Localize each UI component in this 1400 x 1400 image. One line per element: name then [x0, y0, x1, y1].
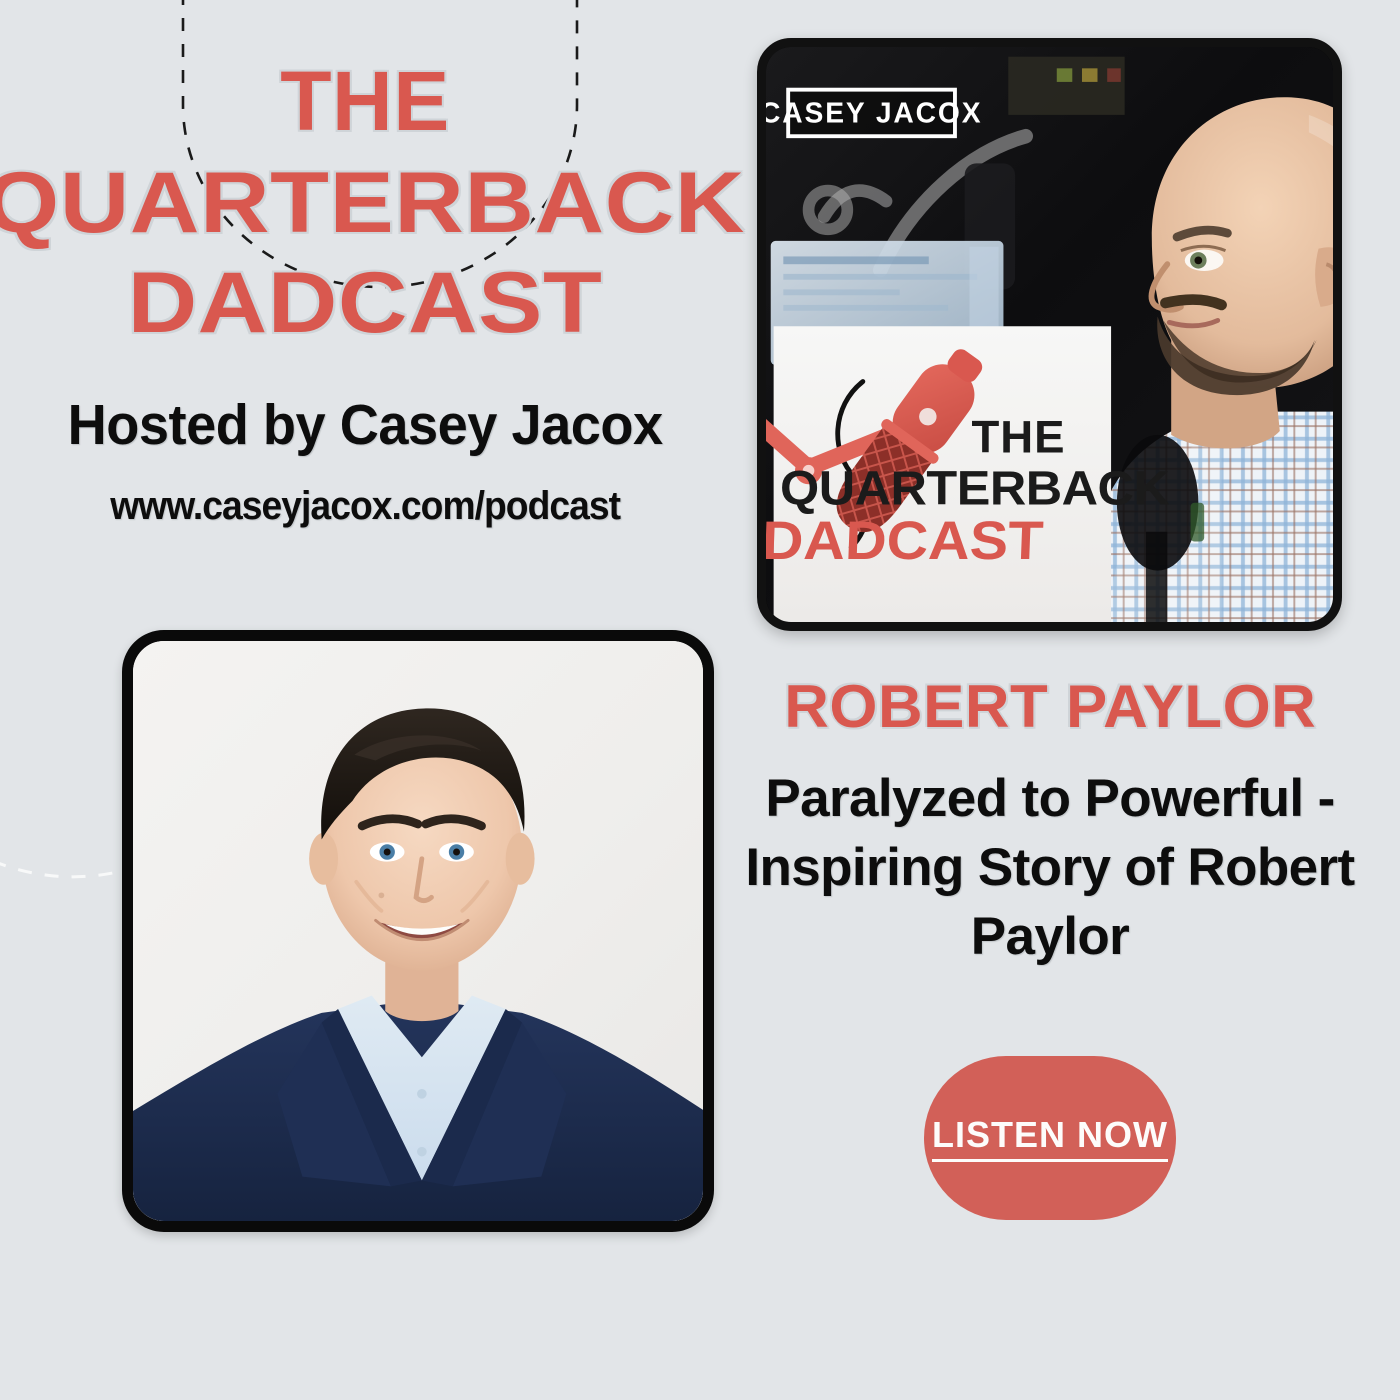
episode-title: Paralyzed to Powerful - Inspiring Story … [712, 765, 1388, 972]
podcast-cover-art[interactable]: CASEY JACOX THE QUARTERBACK [757, 38, 1342, 631]
guest-name: ROBERT PAYLOR [784, 672, 1316, 741]
website-url[interactable]: www.caseyjacox.com/podcast [110, 484, 620, 529]
show-title-line-quarterback: QUARTERBACK [0, 159, 745, 248]
host-credit: Hosted by Casey Jacox [68, 392, 663, 458]
listen-now-label: LISTEN NOW [932, 1114, 1168, 1162]
listen-now-button[interactable]: LISTEN NOW [924, 1056, 1176, 1220]
svg-text:DADCAST: DADCAST [766, 509, 1045, 570]
show-title-line-dadcast: DADCAST [128, 259, 603, 348]
svg-text:QUARTERBACK: QUARTERBACK [780, 462, 1170, 516]
casey-jacox-badge: CASEY JACOX [766, 90, 982, 137]
show-branding-column: THE QUARTERBACK DADCAST Hosted by Casey … [0, 0, 730, 620]
guest-headshot-photo [122, 630, 714, 1232]
episode-info-column: ROBERT PAYLOR Paralyzed to Powerful - In… [712, 672, 1388, 1220]
svg-text:CASEY JACOX: CASEY JACOX [766, 97, 982, 129]
cover-logo-card: THE QUARTERBACK DADCAST [766, 326, 1170, 622]
show-title-line-the: THE [280, 58, 450, 145]
svg-text:THE: THE [971, 411, 1065, 462]
